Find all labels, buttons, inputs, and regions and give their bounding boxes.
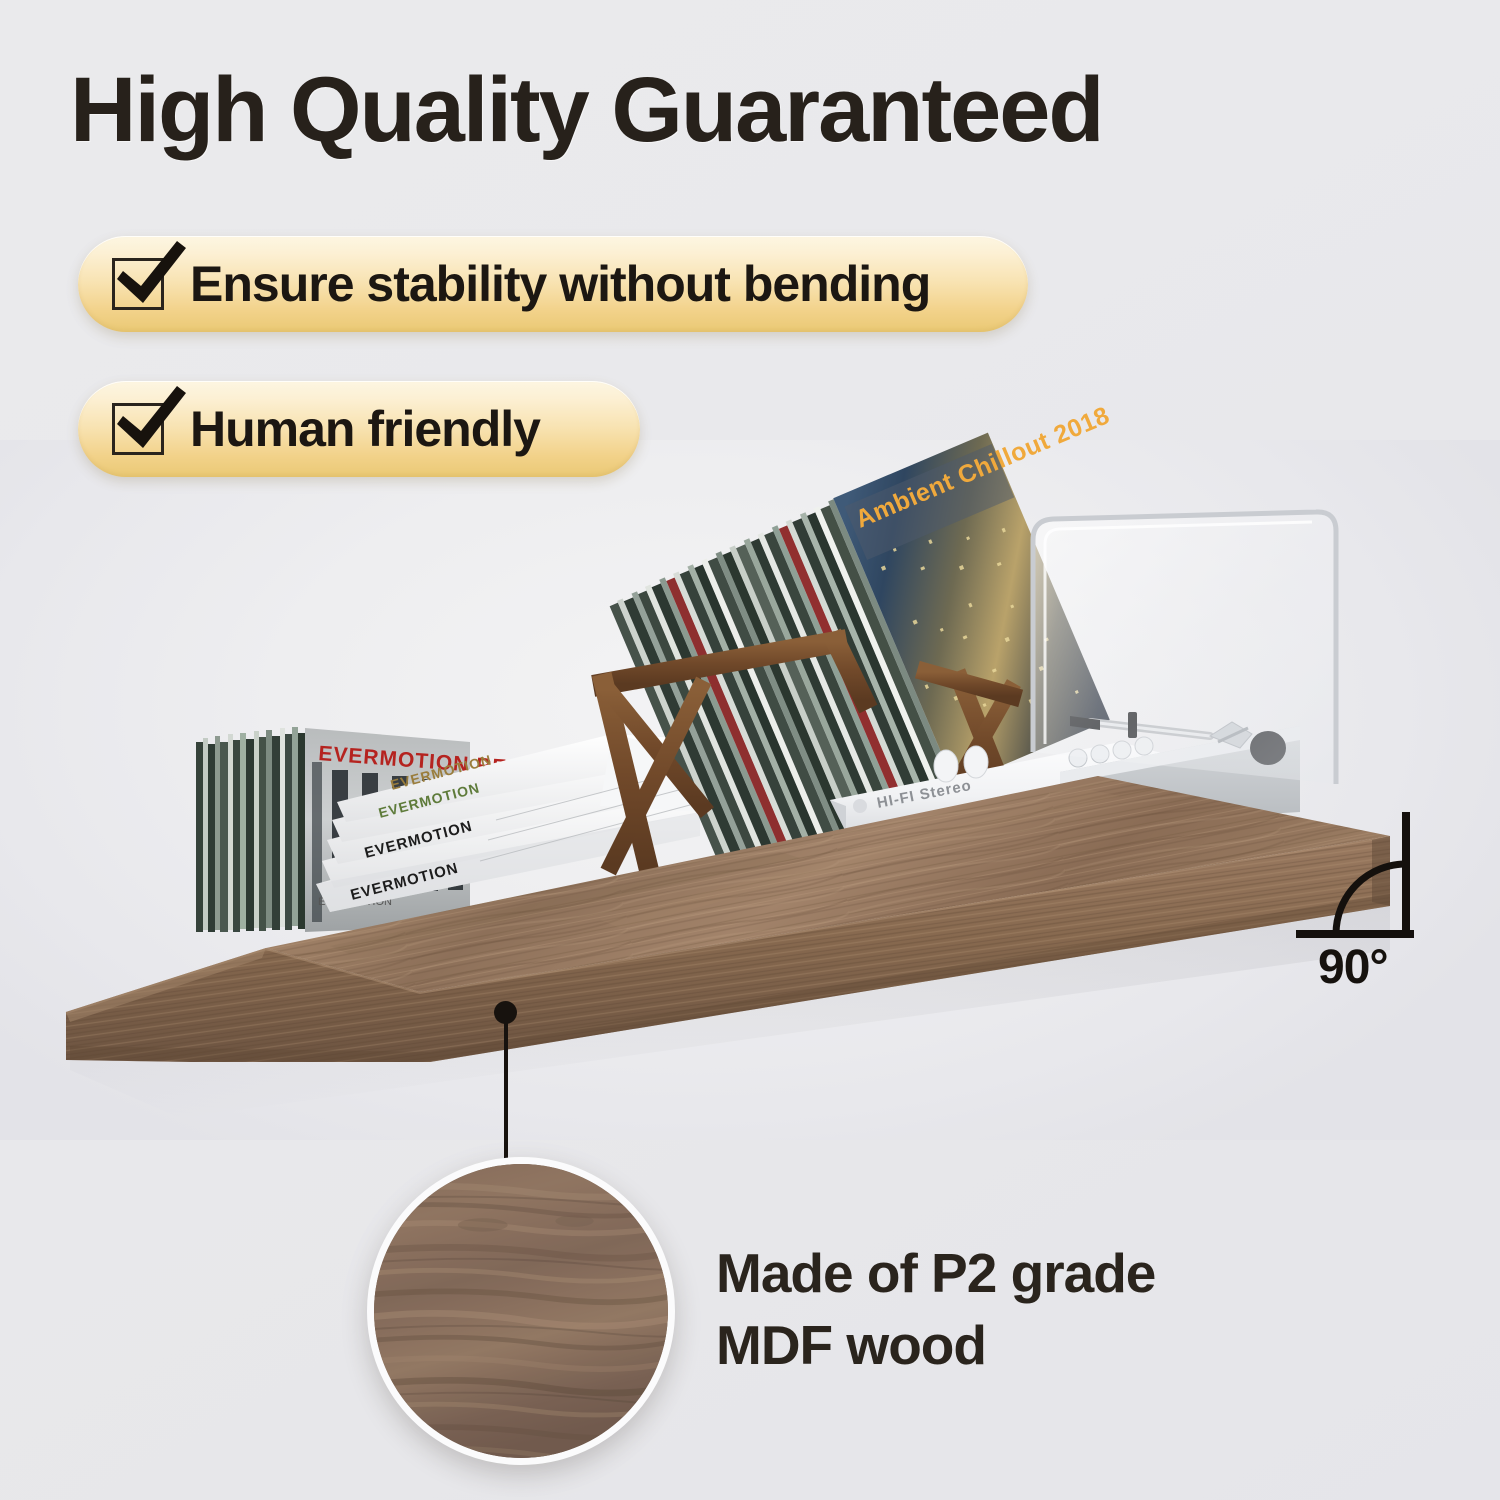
product-feature-graphic: High Quality Guaranteed Ensure stability… (0, 0, 1500, 1500)
angle-value-label: 90° (1318, 940, 1388, 995)
right-angle-icon (1296, 812, 1422, 942)
walnut-grain-swatch (368, 1158, 674, 1464)
wood-grain-magnifier (367, 1157, 675, 1465)
material-callout-text: Made of P2 grade MDF wood (716, 1238, 1155, 1381)
material-callout-line2: MDF wood (716, 1310, 1155, 1382)
material-callout-line1: Made of P2 grade (716, 1238, 1155, 1310)
callout-leader-line (504, 1018, 508, 1166)
